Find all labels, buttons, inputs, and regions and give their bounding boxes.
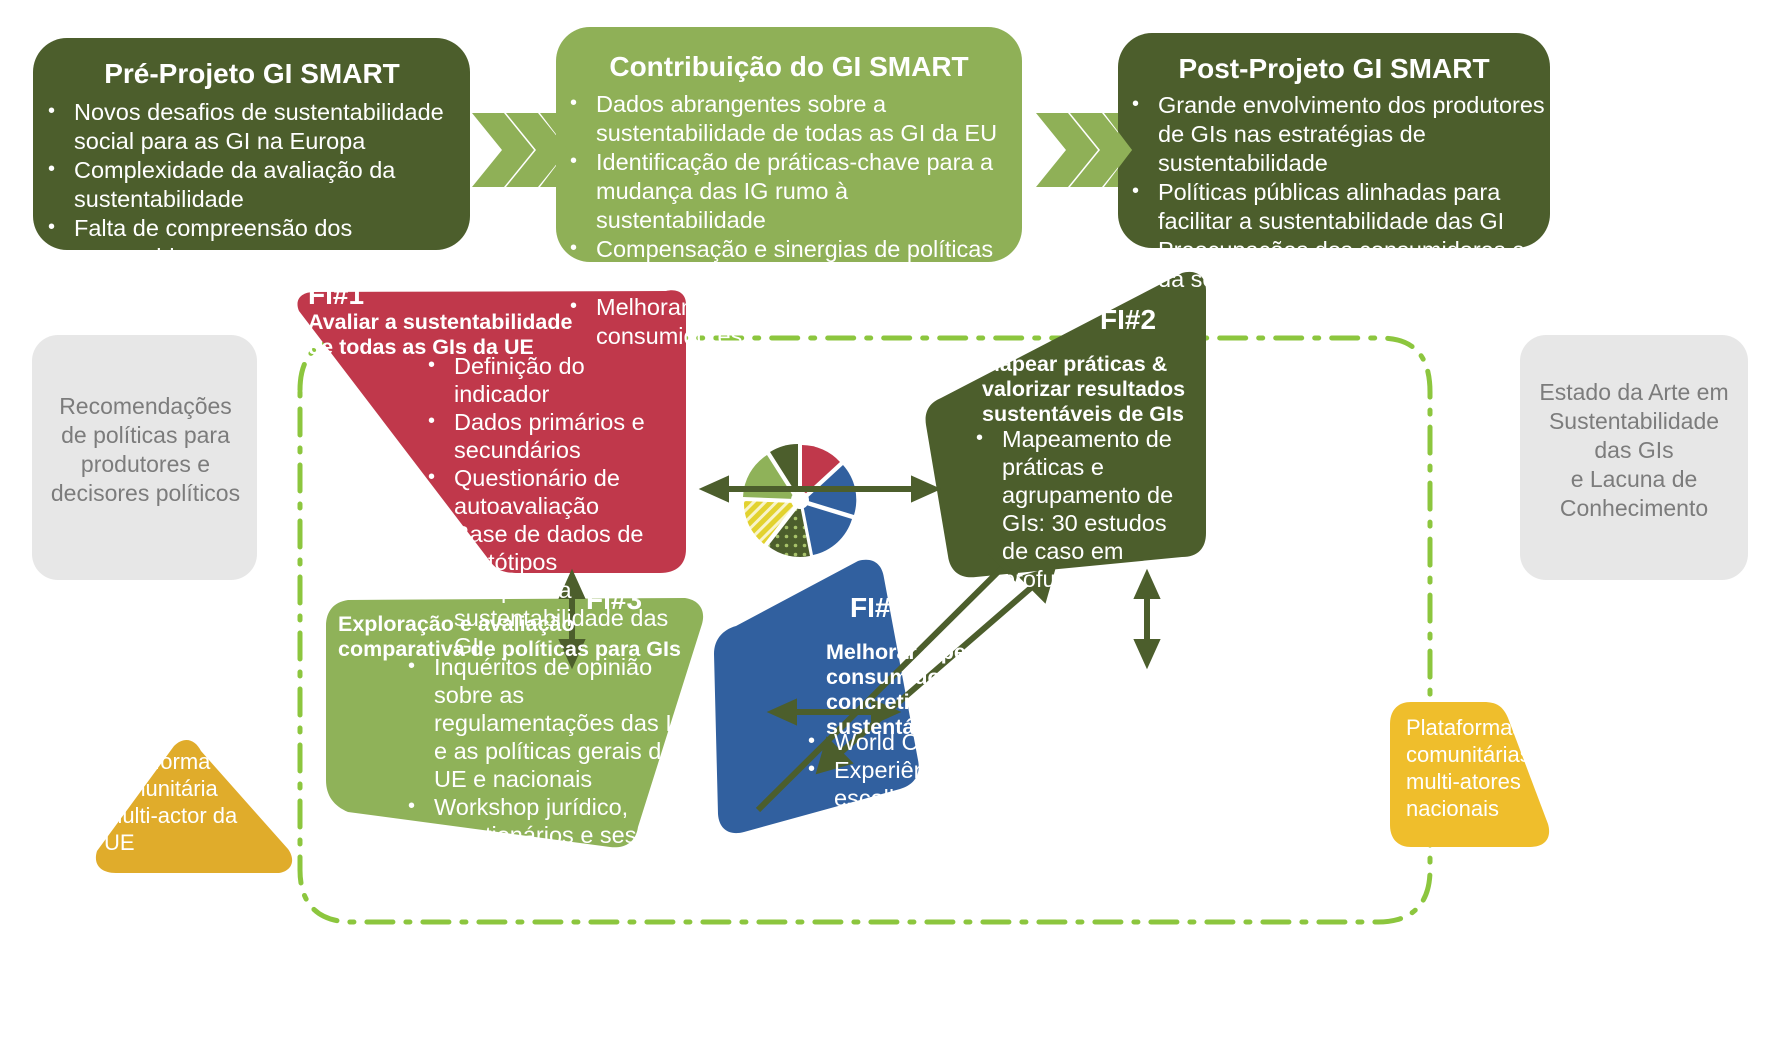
list-item: Grande envolvimento dos produtores de GI…: [1158, 91, 1548, 178]
list-item: Preocupações dos consumidores e da socie…: [1158, 236, 1548, 294]
post-project-title: Post-Projeto GI SMART: [1124, 52, 1544, 86]
list-item: Questionário de autoavaliação: [454, 464, 686, 520]
left-grey-box-text: Recomendações de políticas para produtor…: [38, 392, 253, 508]
text-line: Estado da Arte em: [1522, 378, 1746, 407]
fi2-heading: Mapear práticas & valorizar resultados s…: [982, 352, 1196, 427]
post-project-bullets: Grande envolvimento dos produtores de GI…: [1124, 91, 1548, 294]
list-item: Mapeamento de práticas e agrupamento de …: [1002, 425, 1186, 593]
pre-project-bullets: Novos desafios de sustentabilidade socia…: [40, 98, 464, 272]
text-line: Sustentabilidade: [1522, 407, 1746, 436]
fi1-tag: FI#1: [308, 280, 508, 310]
list-item: World Café: [834, 728, 1068, 756]
list-item: Identificação de práticas-chave para a m…: [596, 148, 1018, 235]
contribution-bullets: Dados abrangentes sobre a sustentabilida…: [562, 90, 1018, 351]
left-platform-text: Plataforma comunitária multi-actor da UE: [104, 748, 264, 856]
text-line: comunitárias: [1406, 741, 1556, 768]
text-line: nacionais: [1406, 795, 1556, 822]
list-item: Dados abrangentes sobre a sustentabilida…: [596, 90, 1018, 148]
chevrons-right-icon-2: [1036, 113, 1132, 187]
diagram-canvas: Pré-Projeto GI SMART Novos desafios de s…: [0, 0, 1778, 1052]
pie-chart-icon: [743, 444, 856, 557]
list-item: Complexidade da avaliação da sustentabil…: [74, 156, 464, 214]
list-item: Experiência de rastreamento ocular do co…: [834, 812, 1068, 896]
text-line: Recomendações: [38, 392, 253, 421]
list-item: Base de dados de protótipos: [454, 520, 686, 576]
fi4-bullets: World Café Experiência de escolha Experi…: [800, 728, 1068, 896]
list-item: Compensação e sinergias de políticas con…: [596, 235, 1018, 293]
text-line: multi-actor da: [104, 802, 264, 829]
text-line: Plataforma: [104, 748, 264, 775]
text-line: multi-atores: [1406, 768, 1556, 795]
text-line: Conhecimento: [1522, 494, 1746, 523]
pre-project-title: Pré-Projeto GI SMART: [40, 57, 464, 91]
text-line: e Lacuna de: [1522, 465, 1746, 494]
list-item: Definição do indicador: [454, 352, 686, 408]
text-line: comunitária: [104, 775, 264, 802]
text-line: das GIs: [1522, 436, 1746, 465]
list-item: Políticas públicas alinhadas para facili…: [1158, 178, 1548, 236]
list-item: Dados primários e secundários: [454, 408, 686, 464]
list-item: Novos desafios de sustentabilidade socia…: [74, 98, 464, 156]
text-line: decisores políticos: [38, 479, 253, 508]
list-item: Workshop jurídico, questionários e sessõ…: [434, 793, 692, 877]
fi2-bullets: Mapeamento de práticas e agrupamento de …: [968, 425, 1186, 593]
list-item: Experiência de escolha: [834, 756, 1068, 812]
list-item: Melhorando os insights dos consumidores: [596, 293, 1018, 351]
fi4-tag: FI#4: [850, 593, 1010, 623]
list-item: Inquéritos de opinião sobre as regulamen…: [434, 653, 692, 793]
text-line: UE: [104, 829, 264, 856]
fi3-bullets: Inquéritos de opinião sobre as regulamen…: [400, 653, 692, 877]
list-item: Falta de compreensão dos consumidores: [74, 214, 464, 272]
chevrons-right-icon-1: [472, 113, 568, 187]
fi3-tag: FI#3: [586, 585, 746, 615]
fi4-heading: Melhorar a perceção do consumidor para c…: [826, 640, 1094, 740]
right-platform-text: Plataformas comunitárias multi-atores na…: [1406, 714, 1556, 822]
text-line: produtores e: [38, 450, 253, 479]
fi2-tag: FI#2: [1100, 305, 1260, 335]
text-line: Plataformas: [1406, 714, 1556, 741]
right-grey-box-text: Estado da Arte em Sustentabilidade das G…: [1522, 378, 1746, 523]
contribution-title: Contribuição do GI SMART: [562, 50, 1016, 84]
text-line: de políticas para: [38, 421, 253, 450]
